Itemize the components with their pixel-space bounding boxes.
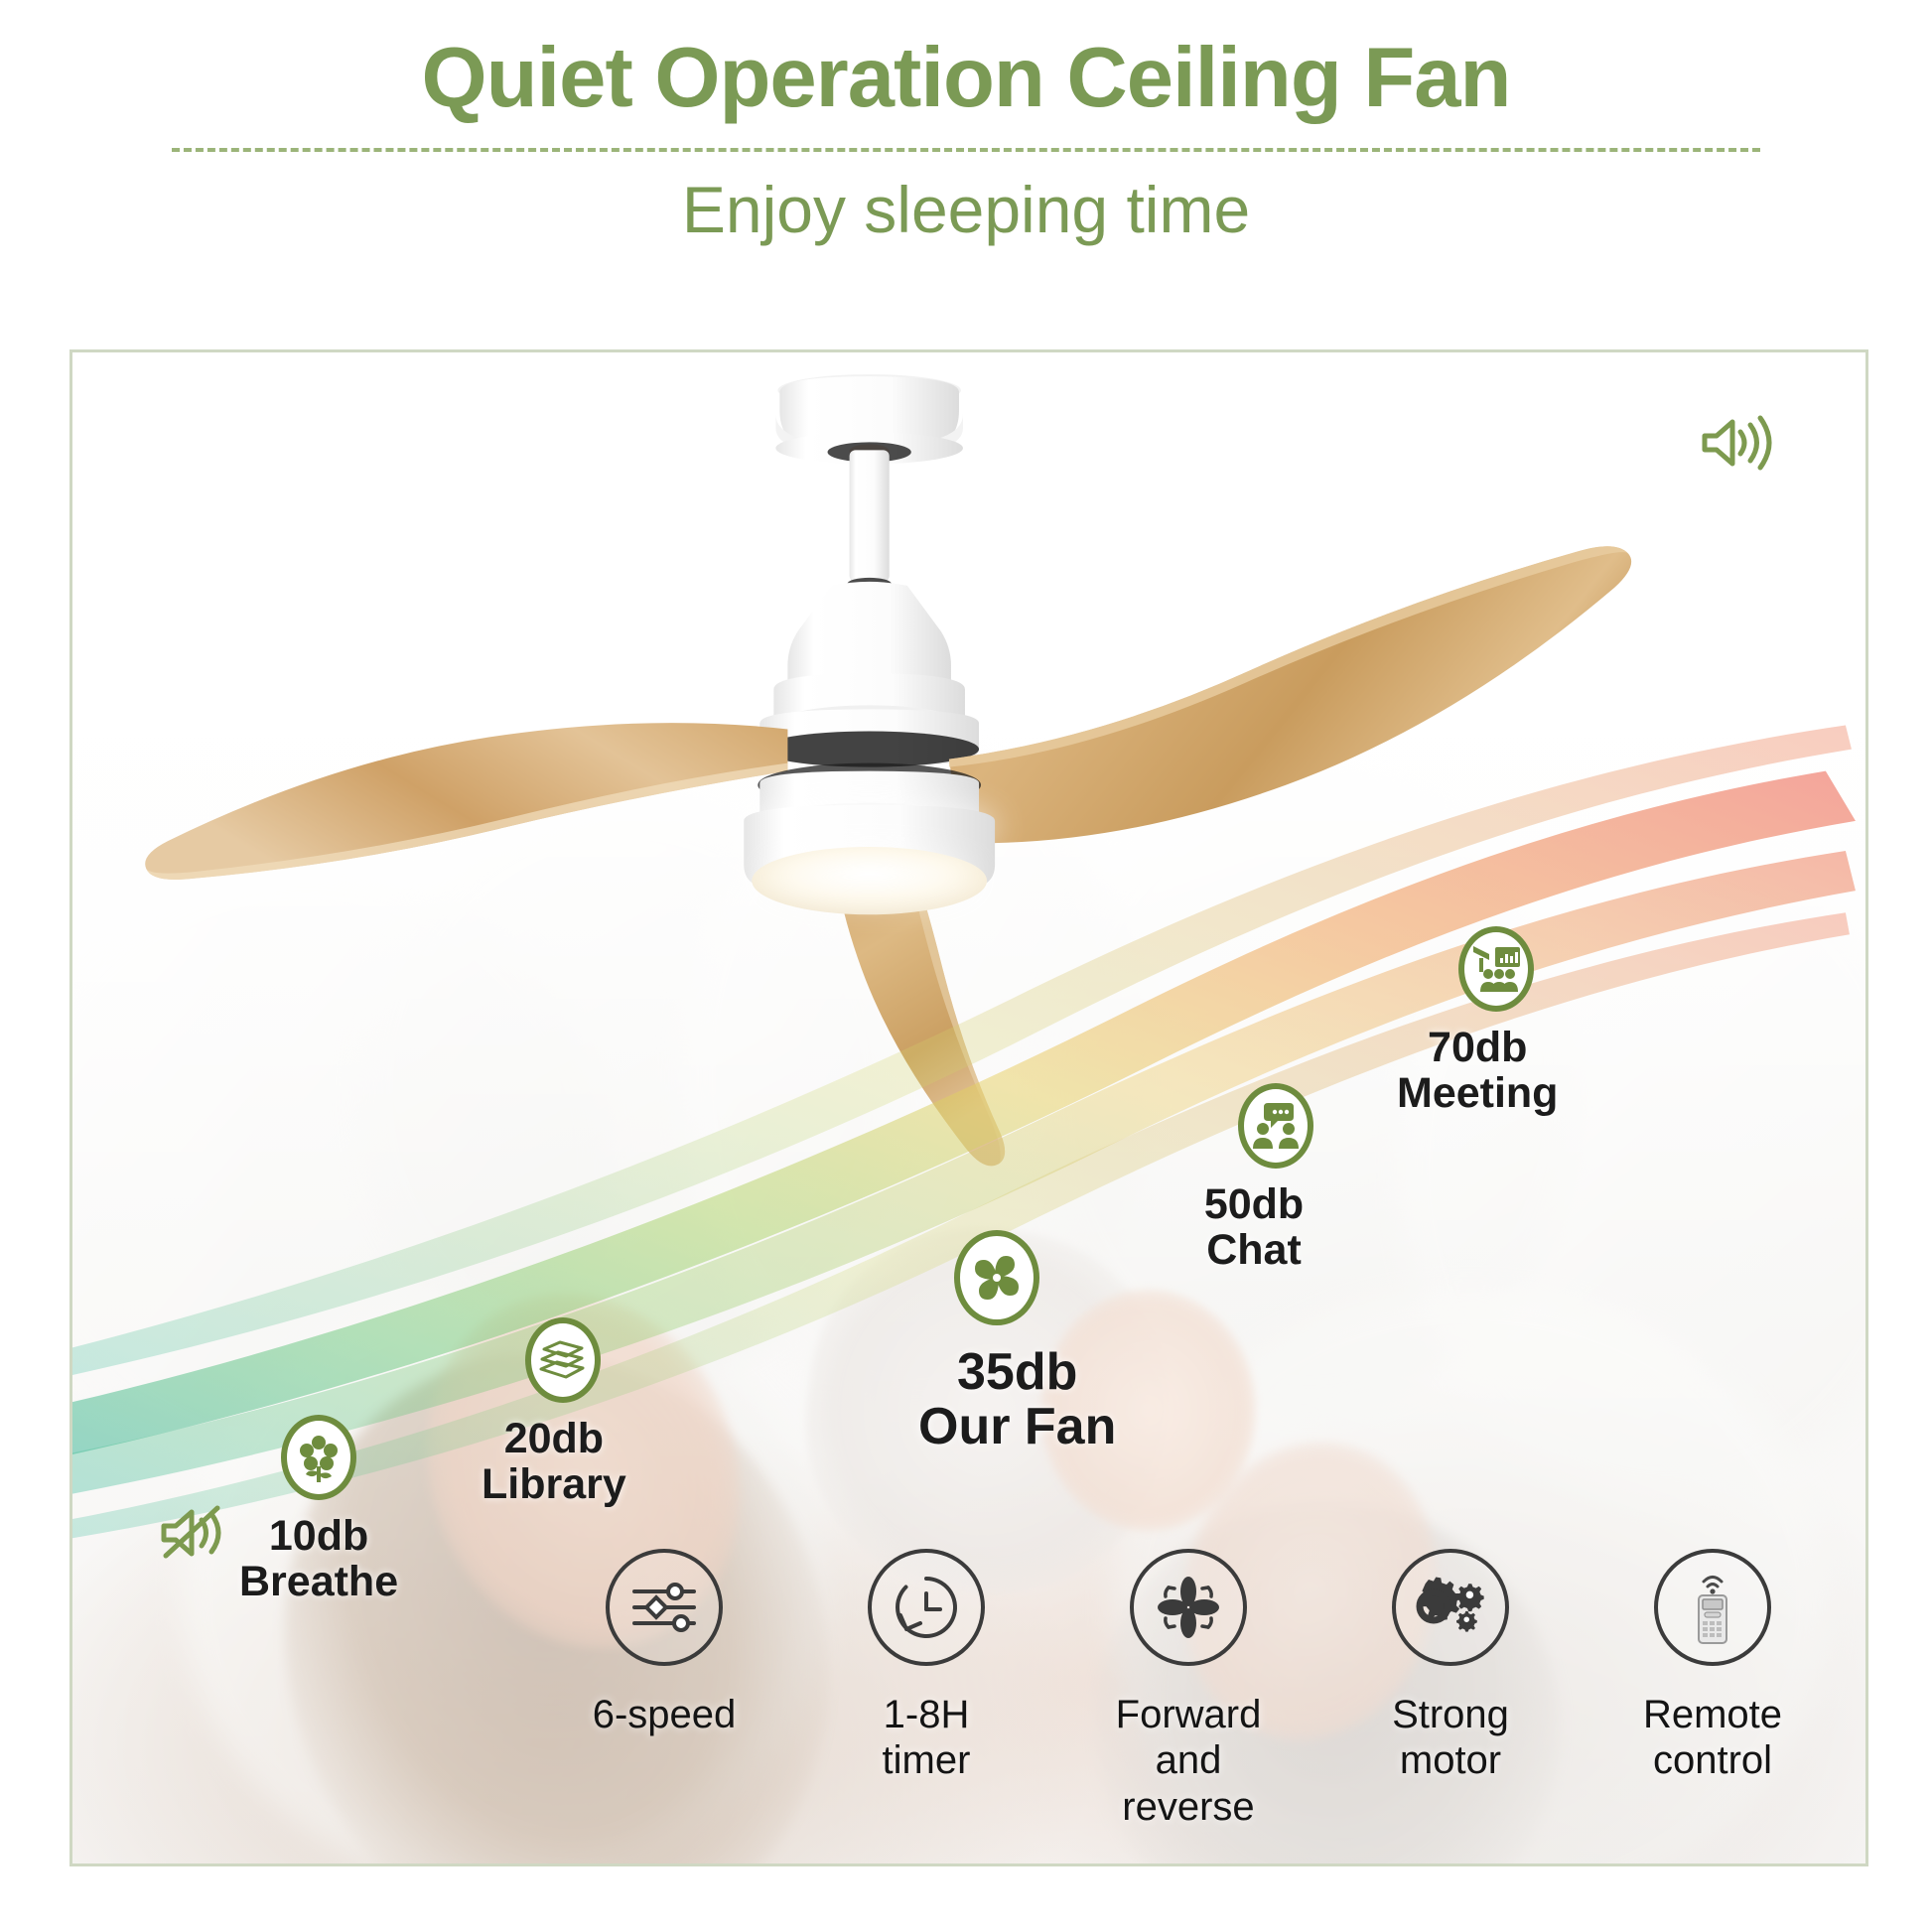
feature-label-forward-reverse: Forward and reverse <box>1091 1692 1286 1830</box>
feature-strong-motor[interactable]: Strong motor <box>1353 1549 1548 1784</box>
people-chat-icon <box>1238 1083 1313 1169</box>
noise-item-meeting: 70db Meeting <box>1458 926 1558 1116</box>
noise-label-library: 20db Library <box>482 1417 626 1507</box>
content-card: 10db Breathe 20db Library <box>69 349 1868 1866</box>
noise-label-meeting: 70db Meeting <box>1397 1026 1558 1116</box>
fan-blades-icon <box>954 1230 1039 1325</box>
books-icon <box>525 1317 601 1403</box>
noise-item-our-fan: 35db Our Fan <box>954 1230 1116 1454</box>
feature-label-remote-control: Remote control <box>1615 1692 1810 1784</box>
feature-label-strong-motor: Strong motor <box>1353 1692 1548 1784</box>
header: Quiet Operation Ceiling Fan Enjoy sleepi… <box>0 0 1932 246</box>
gears-icon <box>1392 1549 1509 1666</box>
reverse-fan-icon <box>1130 1549 1247 1666</box>
presentation-icon <box>1458 926 1534 1012</box>
remote-icon <box>1654 1549 1771 1666</box>
feature-timer[interactable]: 1-8H timer <box>829 1549 1024 1784</box>
timer-clock-icon <box>868 1549 985 1666</box>
page-title: Quiet Operation Ceiling Fan <box>0 34 1932 122</box>
noise-item-chat: 50db Chat <box>1238 1083 1313 1273</box>
noise-label-our-fan: 35db Our Fan <box>918 1345 1116 1454</box>
noise-label-chat: 50db Chat <box>1194 1182 1313 1273</box>
title-divider <box>172 148 1760 152</box>
flower-icon <box>281 1415 356 1500</box>
feature-remote-control[interactable]: Remote control <box>1615 1549 1810 1784</box>
feature-row: 6-speed 1-8H t <box>72 1549 1865 1830</box>
sliders-icon <box>606 1549 723 1666</box>
feature-label-timer: 1-8H timer <box>829 1692 1024 1784</box>
feature-label-6-speed: 6-speed <box>567 1692 761 1737</box>
feature-forward-reverse[interactable]: Forward and reverse <box>1091 1549 1286 1830</box>
feature-6-speed[interactable]: 6-speed <box>567 1549 761 1737</box>
product-infographic: Quiet Operation Ceiling Fan Enjoy sleepi… <box>0 0 1932 1932</box>
page-subtitle: Enjoy sleeping time <box>0 174 1932 246</box>
loud-speaker-icon <box>1699 412 1772 479</box>
noise-item-library: 20db Library <box>525 1317 626 1507</box>
